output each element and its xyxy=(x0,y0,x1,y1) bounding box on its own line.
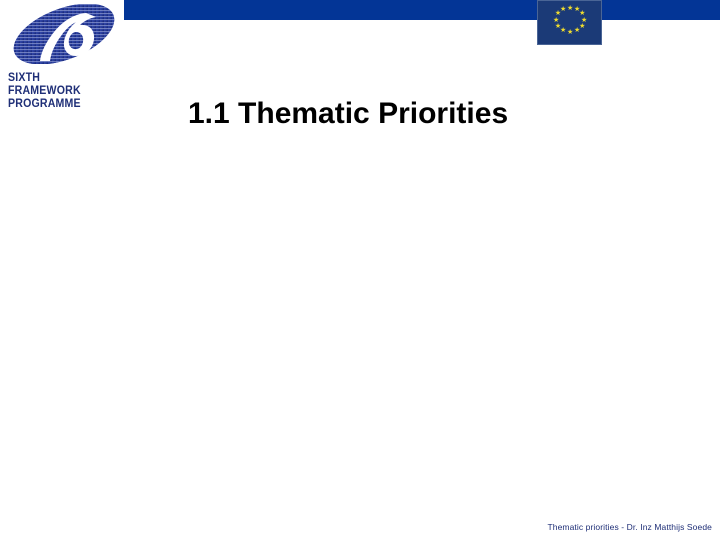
fp6-wordmark: SIXTH FRAMEWORK PROGRAMME xyxy=(8,72,111,111)
eu-flag-icon xyxy=(537,0,602,45)
slide-footer-text: Thematic priorities - Dr. Inz Matthijs S… xyxy=(547,522,712,533)
fp6-six-ellipse-logo xyxy=(8,4,120,64)
page-title: 1.1 Thematic Priorities xyxy=(188,96,608,132)
top-banner-bar xyxy=(124,0,720,20)
slide-body-content xyxy=(40,130,680,500)
eu-flag-stars xyxy=(538,1,601,44)
fp6-wordmark-line2: PROGRAMME xyxy=(8,98,111,111)
fp6-wordmark-line1: SIXTH FRAMEWORK xyxy=(8,72,81,97)
